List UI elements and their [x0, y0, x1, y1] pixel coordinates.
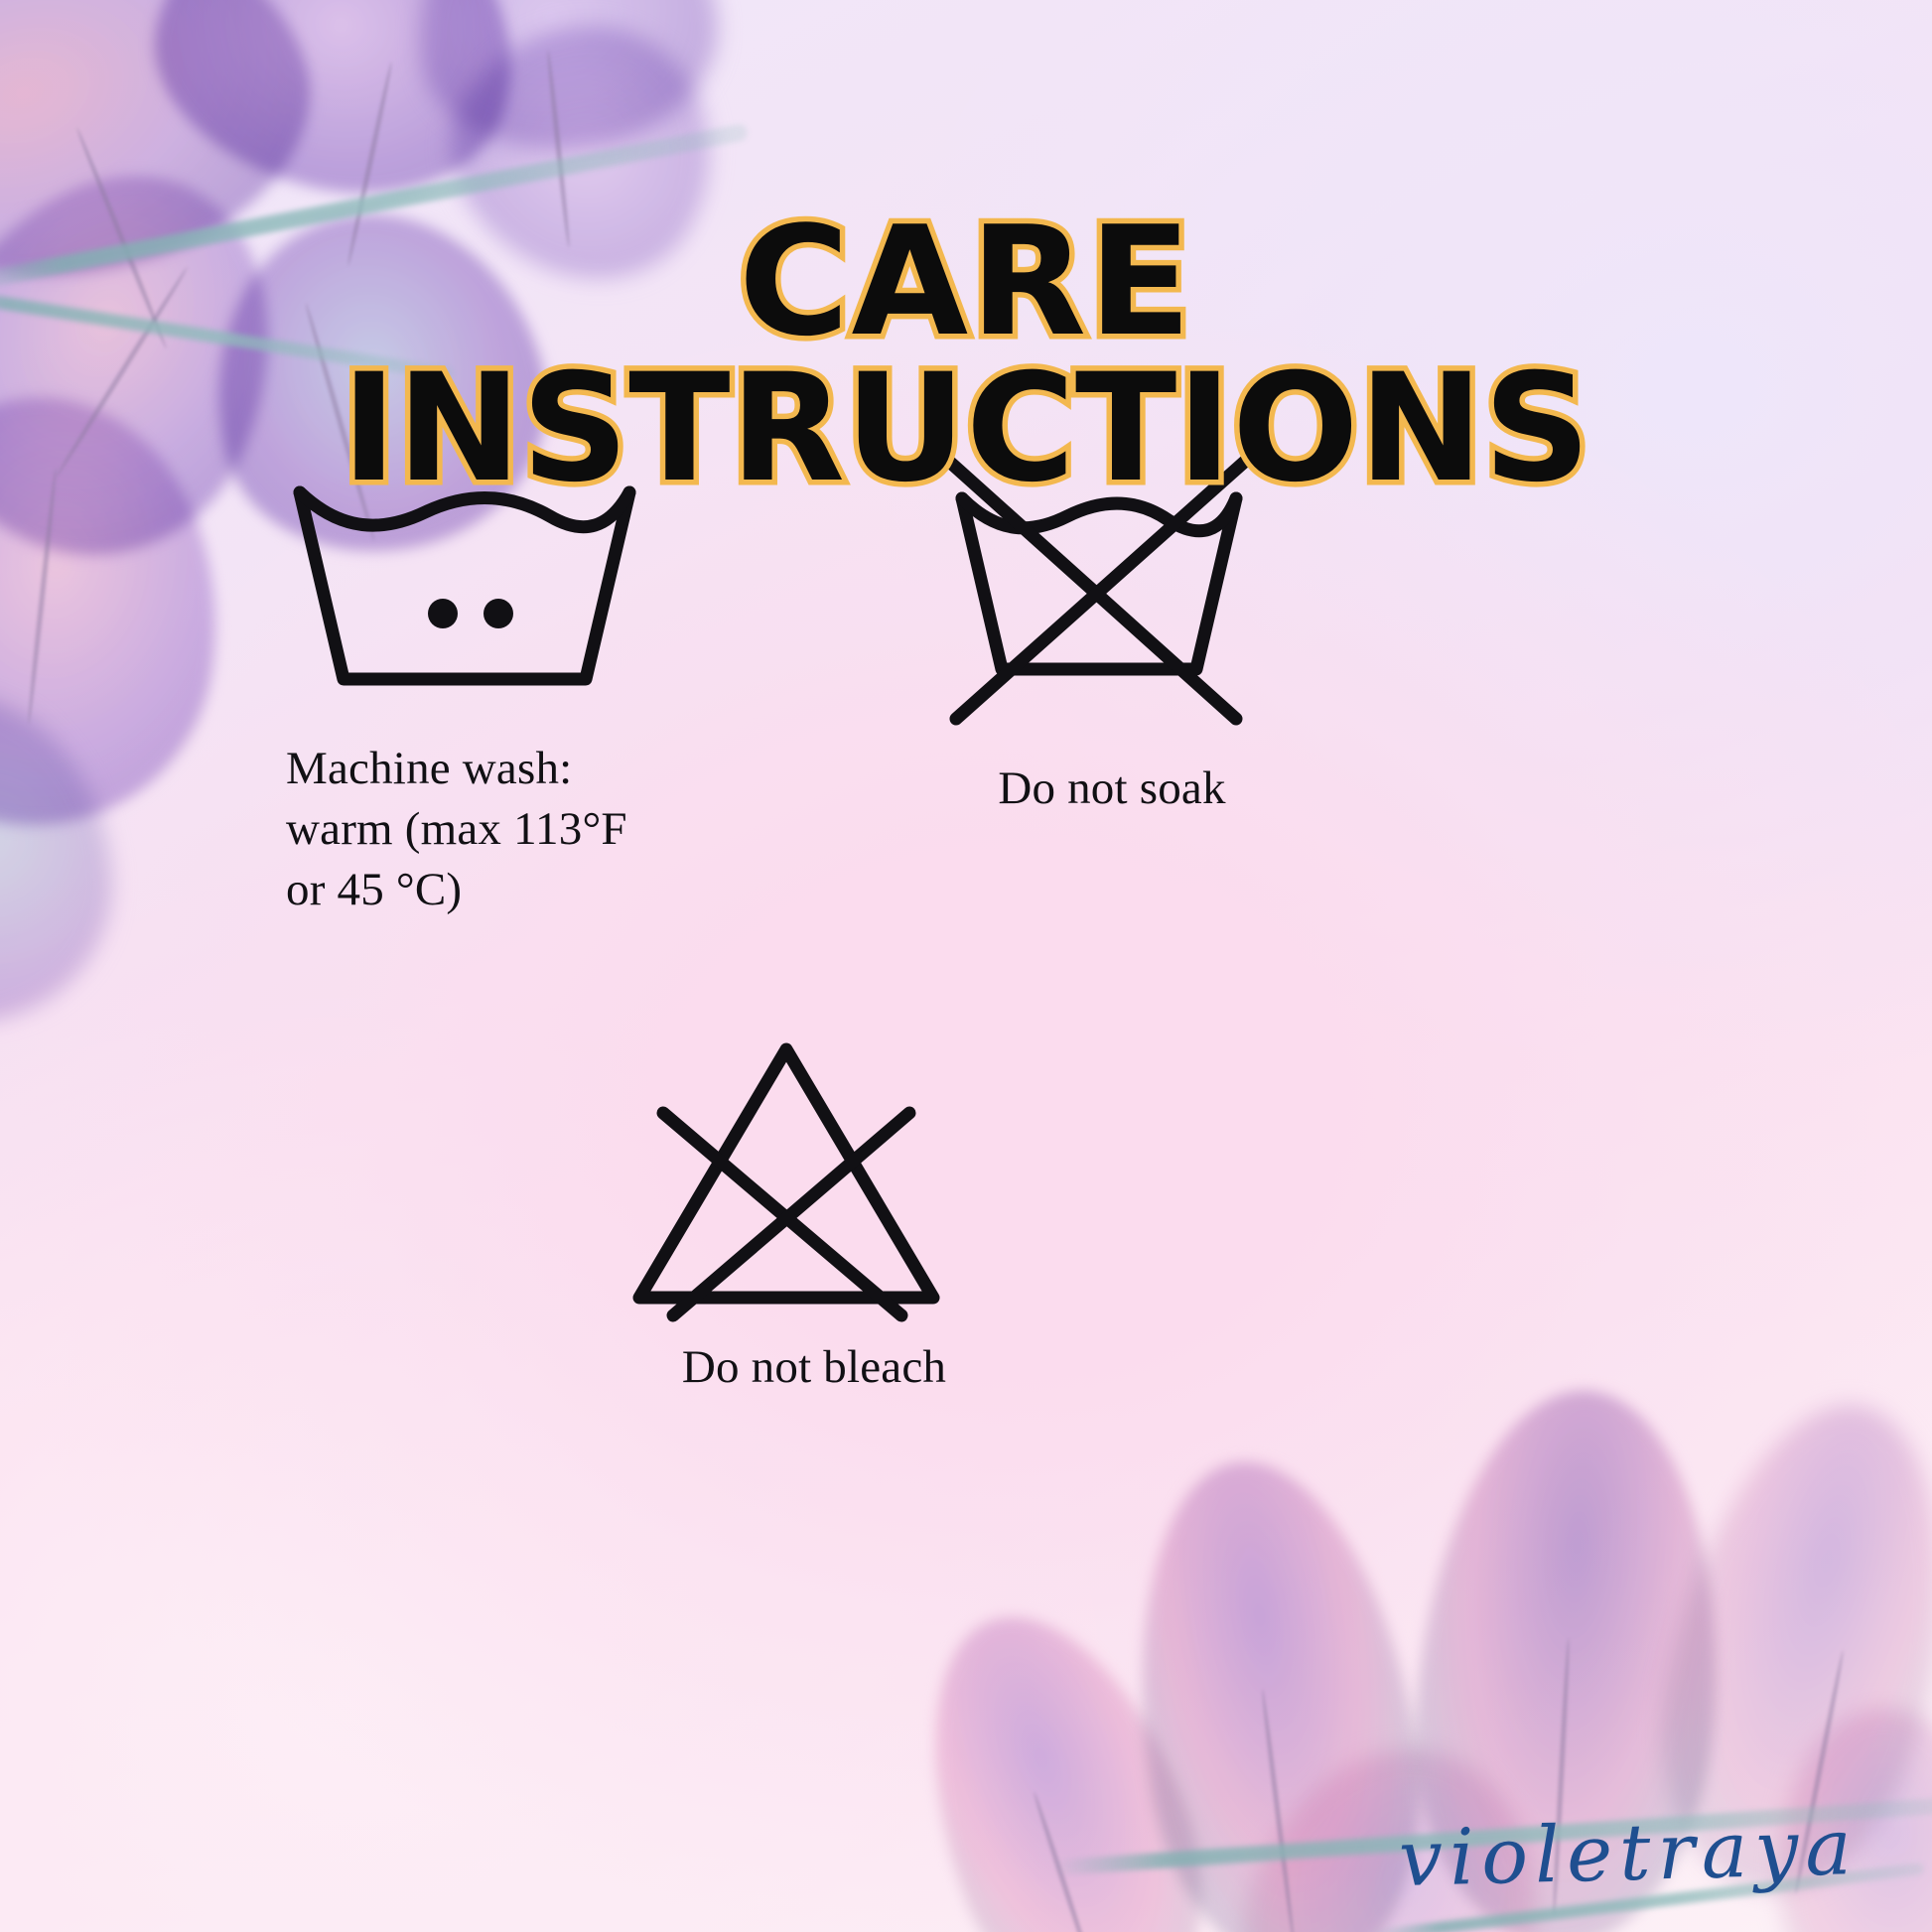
care-item-do-not-bleach: Do not bleach: [596, 1028, 1033, 1398]
triangle-crossed-icon: [618, 1028, 955, 1325]
care-item-do-not-soak-caption: Do not soak: [898, 759, 1325, 819]
page-title-line-1: Care: [0, 208, 1932, 356]
care-instructions-card: Care Instructions Machine wash: warm (ma…: [0, 0, 1932, 1932]
page-title-line-2: Instructions: [0, 356, 1932, 502]
brand-signature: violetraya: [1398, 1803, 1860, 1904]
care-item-machine-wash-caption: Machine wash: warm (max 113°F or 45 °C): [286, 739, 762, 920]
caption-line: Machine wash:: [286, 743, 572, 794]
care-item-do-not-bleach-caption: Do not bleach: [596, 1337, 1033, 1398]
page-title: Care Instructions: [0, 208, 1932, 502]
care-item-machine-wash: Machine wash: warm (max 113°F or 45 °C): [286, 467, 762, 920]
caption-line: or 45 °C): [286, 864, 462, 915]
caption-line: warm (max 113°F: [286, 803, 627, 855]
